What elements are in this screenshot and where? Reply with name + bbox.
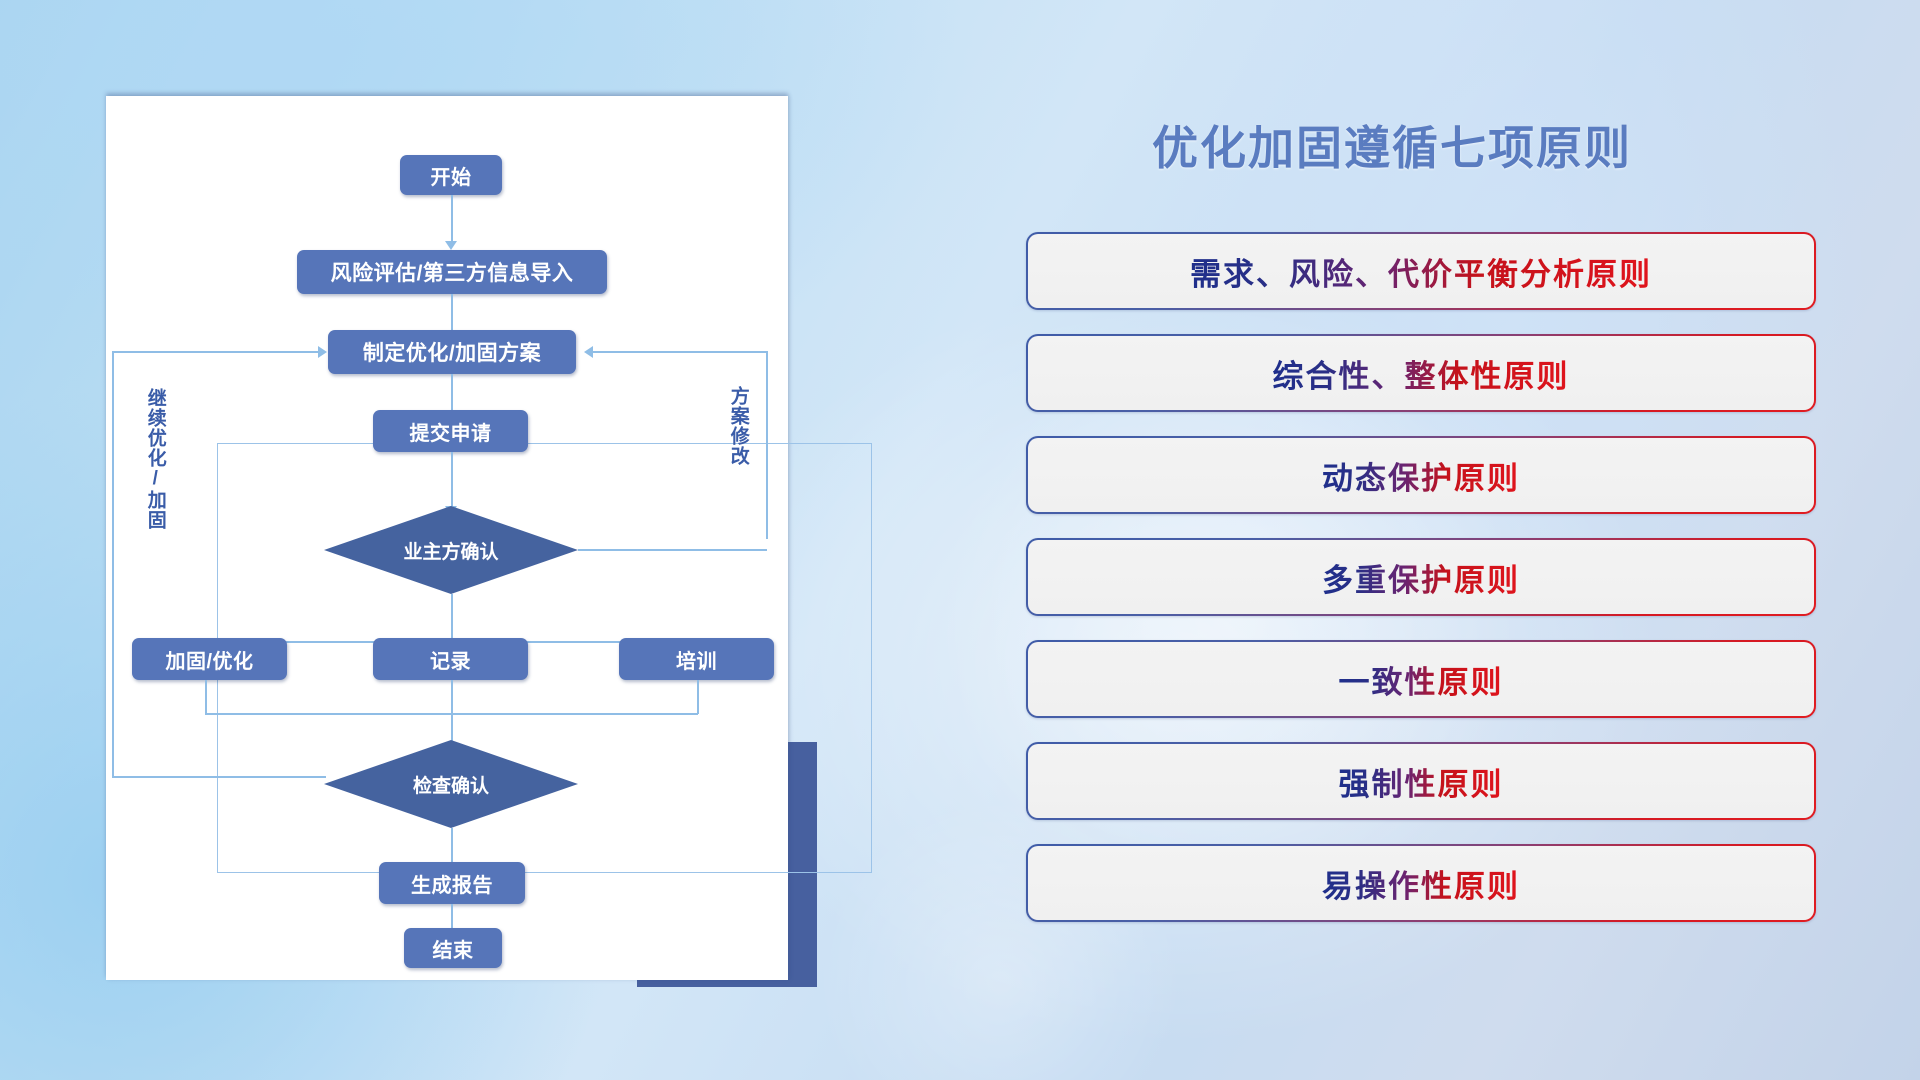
principle-label: 多重保护原则 <box>1322 555 1520 600</box>
flow-node-label: 风险评估/第三方信息导入 <box>331 257 574 287</box>
flow-node-submit[interactable]: 提交申请 <box>373 410 528 452</box>
flow-node-risk-assessment[interactable]: 风险评估/第三方信息导入 <box>297 250 607 294</box>
principle-label: 易操作性原则 <box>1322 861 1520 906</box>
flow-edge-label-right: 方案修改 <box>728 386 748 466</box>
principle-card[interactable]: 动态保护原则 <box>1026 436 1816 514</box>
flow-node-label: 生成报告 <box>411 869 493 898</box>
arrow-down-icon <box>445 241 457 250</box>
principle-card[interactable]: 综合性、整体性原则 <box>1026 334 1816 412</box>
page-title: 优化加固遵循七项原则 <box>1152 112 1632 178</box>
flow-node-label: 记录 <box>430 645 471 674</box>
principle-card[interactable]: 需求、风险、代价平衡分析原则 <box>1026 232 1816 310</box>
flow-node-label: 开始 <box>431 161 472 190</box>
connector-check-to-left-loop <box>112 776 326 778</box>
connector-owner-fanout <box>451 594 453 642</box>
principle-card[interactable]: 多重保护原则 <box>1026 538 1816 616</box>
flow-node-label: 制定优化/加固方案 <box>363 337 541 367</box>
connector-start-risk <box>451 195 453 243</box>
flow-node-report[interactable]: 生成报告 <box>379 862 525 904</box>
flow-node-end[interactable]: 结束 <box>404 928 502 968</box>
flow-node-training[interactable]: 培训 <box>619 638 774 680</box>
principle-label: 强制性原则 <box>1339 759 1504 804</box>
principle-card[interactable]: 一致性原则 <box>1026 640 1816 718</box>
principles-list: 需求、风险、代价平衡分析原则 综合性、整体性原则 动态保护原则 多重保护原则 一… <box>1026 232 1816 946</box>
principle-card[interactable]: 强制性原则 <box>1026 742 1816 820</box>
flow-edge-label-left: 继续优化/加固 <box>145 388 165 530</box>
flow-node-label: 培训 <box>676 645 717 674</box>
connector-right-loop-vertical <box>766 351 768 539</box>
connector-submit-owner <box>451 452 453 510</box>
arrow-left-icon <box>584 346 593 358</box>
connector-right-loop-horizontal <box>592 351 767 353</box>
connector-owner-to-right-loop <box>578 549 767 551</box>
connector-merge-mid <box>451 680 453 714</box>
principle-label: 综合性、整体性原则 <box>1273 351 1570 396</box>
connector-merge-left <box>205 680 207 714</box>
connector-merge-right <box>697 680 699 714</box>
principle-label: 需求、风险、代价平衡分析原则 <box>1190 249 1652 294</box>
principle-label: 一致性原则 <box>1339 657 1504 702</box>
flow-node-label: 检查确认 <box>413 771 489 798</box>
principle-card[interactable]: 易操作性原则 <box>1026 844 1816 922</box>
flow-node-plan[interactable]: 制定优化/加固方案 <box>328 330 576 374</box>
flow-node-record[interactable]: 记录 <box>373 638 528 680</box>
flow-node-label: 提交申请 <box>410 417 492 446</box>
connector-left-loop-vertical <box>112 352 114 776</box>
flow-node-label: 业主方确认 <box>403 537 498 564</box>
principle-label: 动态保护原则 <box>1322 453 1520 498</box>
flow-node-reinforce[interactable]: 加固/优化 <box>132 638 287 680</box>
connector-left-loop-horizontal <box>112 351 320 353</box>
flow-node-start[interactable]: 开始 <box>400 155 502 195</box>
flow-node-label: 结束 <box>433 934 474 963</box>
arrow-right-icon <box>318 346 327 358</box>
flow-node-label: 加固/优化 <box>165 645 253 674</box>
